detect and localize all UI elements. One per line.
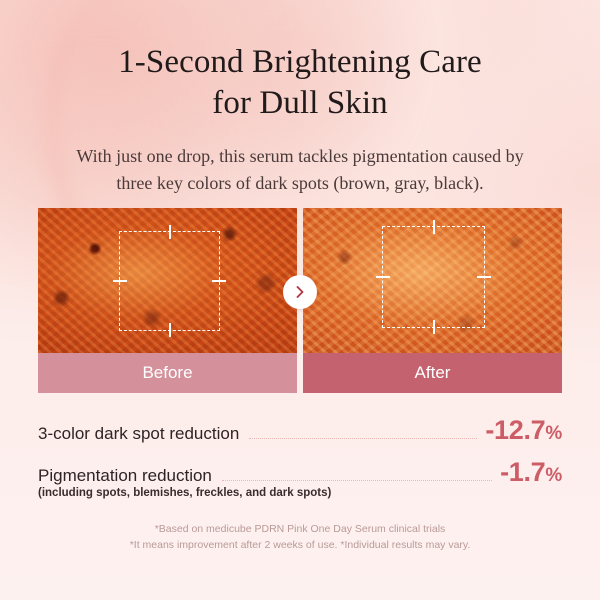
crosshair-tick-left-icon — [113, 280, 127, 282]
footnote-line-2: *It means improvement after 2 weeks of u… — [0, 537, 600, 553]
footnotes: *Based on medicube PDRN Pink One Day Ser… — [0, 521, 600, 553]
result-unit: % — [545, 423, 562, 444]
crosshair-tick-top-icon — [433, 220, 435, 234]
headline-line-2: for Dull Skin — [0, 83, 600, 124]
result-unit: % — [545, 465, 562, 486]
before-panel: Before — [38, 208, 297, 393]
results-list: 3-color dark spot reduction -12.7% Pigme… — [38, 415, 562, 499]
after-label: After — [303, 353, 562, 393]
ad-creative: 1-Second Brightening Care for Dull Skin … — [0, 0, 600, 600]
result-row: Pigmentation reduction -1.7% — [38, 457, 562, 491]
footnote-line-1: *Based on medicube PDRN Pink One Day Ser… — [0, 521, 600, 537]
leader-line — [249, 437, 477, 439]
result-label: 3-color dark spot reduction — [38, 424, 239, 444]
result-row: 3-color dark spot reduction -12.7% — [38, 415, 562, 449]
crosshair-tick-right-icon — [212, 280, 226, 282]
headline-line-1: 1-Second Brightening Care — [0, 42, 600, 83]
result-value: -12.7% — [485, 415, 562, 446]
leader-line — [222, 479, 492, 481]
page-title: 1-Second Brightening Care for Dull Skin — [0, 42, 600, 124]
result-number: -12.7 — [485, 415, 545, 445]
subhead-line-1: With just one drop, this serum tackles p… — [0, 143, 600, 170]
crosshair-tick-top-icon — [169, 225, 171, 239]
after-panel: After — [303, 208, 562, 393]
result-value: -1.7% — [500, 457, 562, 488]
page-subtitle: With just one drop, this serum tackles p… — [0, 143, 600, 197]
result-label: Pigmentation reduction — [38, 466, 212, 486]
chevron-right-icon[interactable] — [283, 275, 317, 309]
crosshair-tick-right-icon — [477, 276, 491, 278]
before-after-comparison: Before After — [38, 208, 562, 393]
result-number: -1.7 — [500, 457, 545, 487]
crosshair-tick-bottom-icon — [169, 323, 171, 337]
before-skin-image — [38, 208, 297, 353]
subhead-line-2: three key colors of dark spots (brown, g… — [0, 170, 600, 197]
before-selection-box — [119, 231, 220, 331]
crosshair-tick-bottom-icon — [433, 320, 435, 334]
before-label: Before — [38, 353, 297, 393]
after-selection-box — [382, 226, 485, 328]
after-skin-image — [303, 208, 562, 353]
crosshair-tick-left-icon — [376, 276, 390, 278]
